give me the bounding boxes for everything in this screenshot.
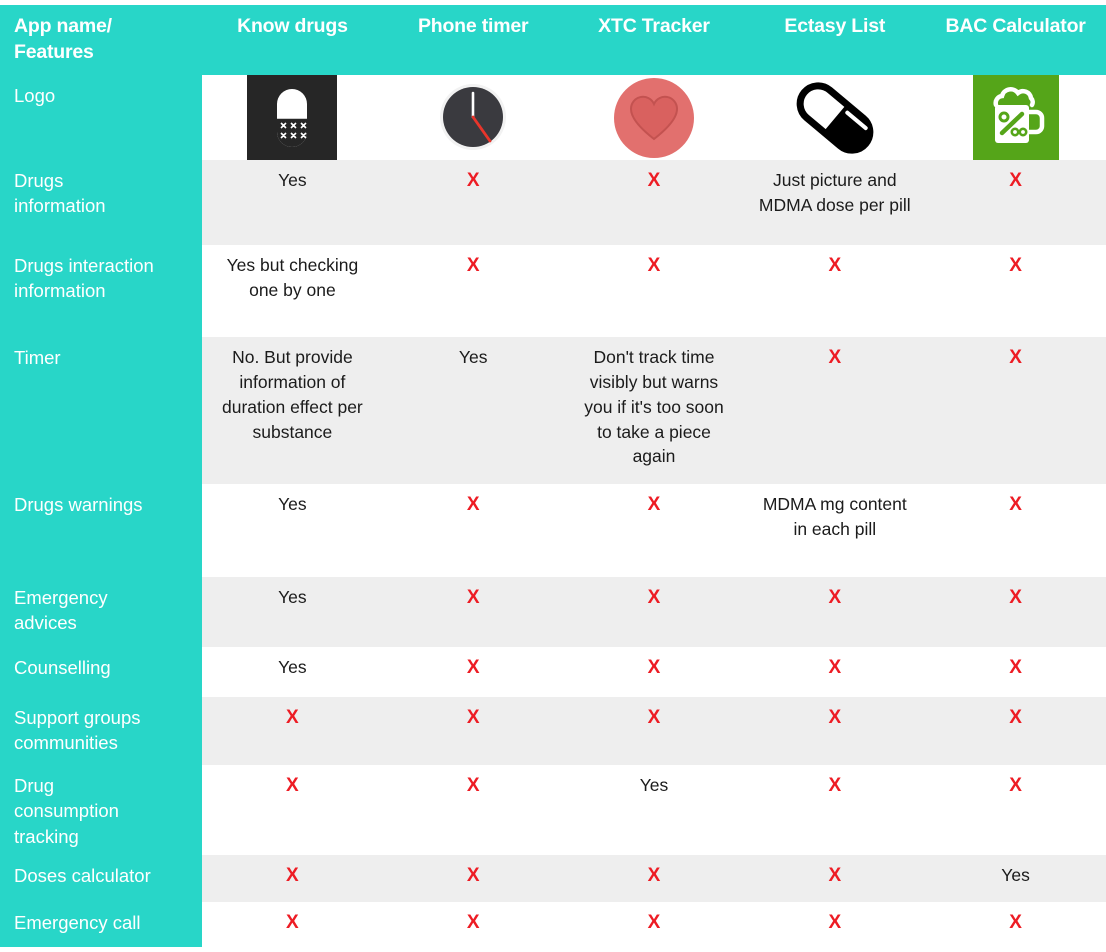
- x-mark-icon: X: [467, 254, 480, 279]
- x-mark-icon: X: [286, 864, 299, 889]
- table-row: TimerNo. But provide information of dura…: [0, 337, 1106, 484]
- cell-support-groups-communities-xtc-tracker: X: [564, 697, 745, 765]
- cell-timer-xtc-tracker: Don't track time visibly but warns you i…: [564, 337, 745, 484]
- table-row: Emergency callXXXXX: [0, 902, 1106, 944]
- cell-drugs-interaction-information-xtc-tracker: X: [564, 245, 745, 337]
- x-mark-icon: X: [648, 656, 661, 681]
- cell-timer-know-drugs: No. But provide information of duration …: [202, 337, 383, 484]
- table-row: Emergency advicesYesXXXX: [0, 577, 1106, 647]
- cell-emergency-call-know-drugs: X: [202, 902, 383, 944]
- x-mark-icon: X: [467, 864, 480, 889]
- cell-counselling-ectasy-list: X: [744, 647, 925, 697]
- logo-cell-know-drugs: [202, 75, 383, 160]
- row-label-timer: Timer: [0, 337, 202, 484]
- table-row: Drug consumption trackingXXYesXX: [0, 765, 1106, 855]
- rose-heart-circle-icon: [614, 78, 694, 158]
- cell-emergency-call-phone-timer: X: [383, 902, 564, 944]
- black-white-capsule-icon: [785, 75, 885, 161]
- cell-drug-consumption-tracking-phone-timer: X: [383, 765, 564, 855]
- table-header-row: App name/ Features Know drugs Phone time…: [0, 5, 1106, 75]
- x-mark-icon: X: [828, 774, 841, 799]
- cell-drugs-warnings-know-drugs: Yes: [202, 484, 383, 577]
- x-mark-icon: X: [1009, 169, 1022, 194]
- black-capsule-pill-icon: [247, 75, 337, 161]
- cell-drugs-warnings-xtc-tracker: X: [564, 484, 745, 577]
- table-row: CounsellingYesXXXX: [0, 647, 1106, 697]
- cell-emergency-advices-know-drugs: Yes: [202, 577, 383, 647]
- header-app-name-features: App name/ Features: [0, 5, 202, 75]
- cell-drugs-information-bac-calculator: X: [925, 160, 1106, 245]
- x-mark-icon: X: [467, 911, 480, 936]
- header-app-ectasy-list: Ectasy List: [744, 5, 925, 75]
- cell-drug-consumption-tracking-know-drugs: X: [202, 765, 383, 855]
- x-mark-icon: X: [828, 706, 841, 731]
- x-mark-icon: X: [648, 911, 661, 936]
- green-beer-mug-permille-icon: [973, 75, 1059, 161]
- table-row: Drugs warningsYesXXMDMA mg content in ea…: [0, 484, 1106, 577]
- x-mark-icon: X: [467, 656, 480, 681]
- app-feature-comparison-table: App name/ Features Know drugs Phone time…: [0, 0, 1106, 952]
- x-mark-icon: X: [828, 586, 841, 611]
- cell-drugs-interaction-information-phone-timer: X: [383, 245, 564, 337]
- dark-clock-icon: [436, 80, 510, 154]
- cell-doses-calculator-phone-timer: X: [383, 855, 564, 902]
- cell-drugs-information-ectasy-list: Just picture and MDMA dose per pill: [744, 160, 925, 245]
- cell-emergency-call-bac-calculator: X: [925, 902, 1106, 944]
- x-mark-icon: X: [1009, 586, 1022, 611]
- header-app-know-drugs: Know drugs: [202, 5, 383, 75]
- x-mark-icon: X: [828, 864, 841, 889]
- cell-counselling-xtc-tracker: X: [564, 647, 745, 697]
- cell-doses-calculator-know-drugs: X: [202, 855, 383, 902]
- row-label-doses-calculator: Doses calculator: [0, 855, 202, 902]
- row-label-support-groups-communities: Support groups communities: [0, 697, 202, 765]
- x-mark-icon: X: [1009, 656, 1022, 681]
- cell-drugs-warnings-ectasy-list: MDMA mg content in each pill: [744, 484, 925, 577]
- cell-emergency-advices-phone-timer: X: [383, 577, 564, 647]
- x-mark-icon: X: [828, 911, 841, 936]
- x-mark-icon: X: [467, 706, 480, 731]
- row-label-drug-consumption-tracking: Drug consumption tracking: [0, 765, 202, 855]
- x-mark-icon: X: [648, 493, 661, 518]
- cell-doses-calculator-bac-calculator: Yes: [925, 855, 1106, 902]
- x-mark-icon: X: [828, 346, 841, 371]
- cell-support-groups-communities-phone-timer: X: [383, 697, 564, 765]
- cell-support-groups-communities-know-drugs: X: [202, 697, 383, 765]
- x-mark-icon: X: [467, 586, 480, 611]
- x-mark-icon: X: [1009, 254, 1022, 279]
- cell-timer-ectasy-list: X: [744, 337, 925, 484]
- cell-counselling-know-drugs: Yes: [202, 647, 383, 697]
- cell-drug-consumption-tracking-ectasy-list: X: [744, 765, 925, 855]
- header-app-bac-calculator: BAC Calculator: [925, 5, 1106, 75]
- x-mark-icon: X: [467, 169, 480, 194]
- x-mark-icon: X: [828, 254, 841, 279]
- cell-drugs-interaction-information-know-drugs: Yes but checking one by one: [202, 245, 383, 337]
- row-label-emergency-call: Emergency call: [0, 902, 202, 944]
- x-mark-icon: X: [467, 774, 480, 799]
- table-row-logo: Logo: [0, 75, 1106, 160]
- logo-cell-bac-calculator: [925, 75, 1106, 160]
- table-row: Doses calculatorXXXXYes: [0, 855, 1106, 902]
- x-mark-icon: X: [467, 493, 480, 518]
- row-label-drugs-warnings: Drugs warnings: [0, 484, 202, 577]
- cell-drugs-information-know-drugs: Yes: [202, 160, 383, 245]
- row-label-counselling: Counselling: [0, 647, 202, 697]
- cell-drugs-warnings-bac-calculator: X: [925, 484, 1106, 577]
- cell-emergency-advices-ectasy-list: X: [744, 577, 925, 647]
- x-mark-icon: X: [286, 911, 299, 936]
- x-mark-icon: X: [1009, 911, 1022, 936]
- table-row: Drugs interaction informationYes but che…: [0, 245, 1106, 337]
- cell-emergency-call-xtc-tracker: X: [564, 902, 745, 944]
- x-mark-icon: X: [286, 774, 299, 799]
- x-mark-icon: X: [648, 169, 661, 194]
- row-label-logo: Logo: [0, 75, 202, 160]
- cell-drugs-warnings-phone-timer: X: [383, 484, 564, 577]
- logo-cell-ectasy-list: [744, 75, 925, 160]
- table-body: Logo: [0, 75, 1106, 944]
- cell-drug-consumption-tracking-xtc-tracker: Yes: [564, 765, 745, 855]
- table-row: Drugs informationYesXXJust picture and M…: [0, 160, 1106, 245]
- cell-timer-bac-calculator: X: [925, 337, 1106, 484]
- x-mark-icon: X: [648, 586, 661, 611]
- header-app-xtc-tracker: XTC Tracker: [564, 5, 745, 75]
- x-mark-icon: X: [1009, 706, 1022, 731]
- cell-support-groups-communities-ectasy-list: X: [744, 697, 925, 765]
- row-label-emergency-advices: Emergency advices: [0, 577, 202, 647]
- cell-support-groups-communities-bac-calculator: X: [925, 697, 1106, 765]
- row-label-drugs-information: Drugs information: [0, 160, 202, 245]
- x-mark-icon: X: [648, 254, 661, 279]
- x-mark-icon: X: [1009, 346, 1022, 371]
- cell-drug-consumption-tracking-bac-calculator: X: [925, 765, 1106, 855]
- cell-drugs-interaction-information-ectasy-list: X: [744, 245, 925, 337]
- x-mark-icon: X: [648, 864, 661, 889]
- cell-emergency-call-ectasy-list: X: [744, 902, 925, 944]
- row-label-drugs-interaction-information: Drugs interaction information: [0, 245, 202, 337]
- cell-doses-calculator-ectasy-list: X: [744, 855, 925, 902]
- cell-counselling-phone-timer: X: [383, 647, 564, 697]
- x-mark-icon: X: [1009, 493, 1022, 518]
- cell-drugs-information-phone-timer: X: [383, 160, 564, 245]
- cell-emergency-advices-bac-calculator: X: [925, 577, 1106, 647]
- x-mark-icon: X: [286, 706, 299, 731]
- logo-cell-xtc-tracker: [564, 75, 745, 160]
- x-mark-icon: X: [828, 656, 841, 681]
- header-app-phone-timer: Phone timer: [383, 5, 564, 75]
- cell-timer-phone-timer: Yes: [383, 337, 564, 484]
- table-row: Support groups communitiesXXXXX: [0, 697, 1106, 765]
- cell-counselling-bac-calculator: X: [925, 647, 1106, 697]
- cell-emergency-advices-xtc-tracker: X: [564, 577, 745, 647]
- cell-drugs-interaction-information-bac-calculator: X: [925, 245, 1106, 337]
- x-mark-icon: X: [1009, 774, 1022, 799]
- cell-drugs-information-xtc-tracker: X: [564, 160, 745, 245]
- logo-cell-phone-timer: [383, 75, 564, 160]
- x-mark-icon: X: [648, 706, 661, 731]
- cell-doses-calculator-xtc-tracker: X: [564, 855, 745, 902]
